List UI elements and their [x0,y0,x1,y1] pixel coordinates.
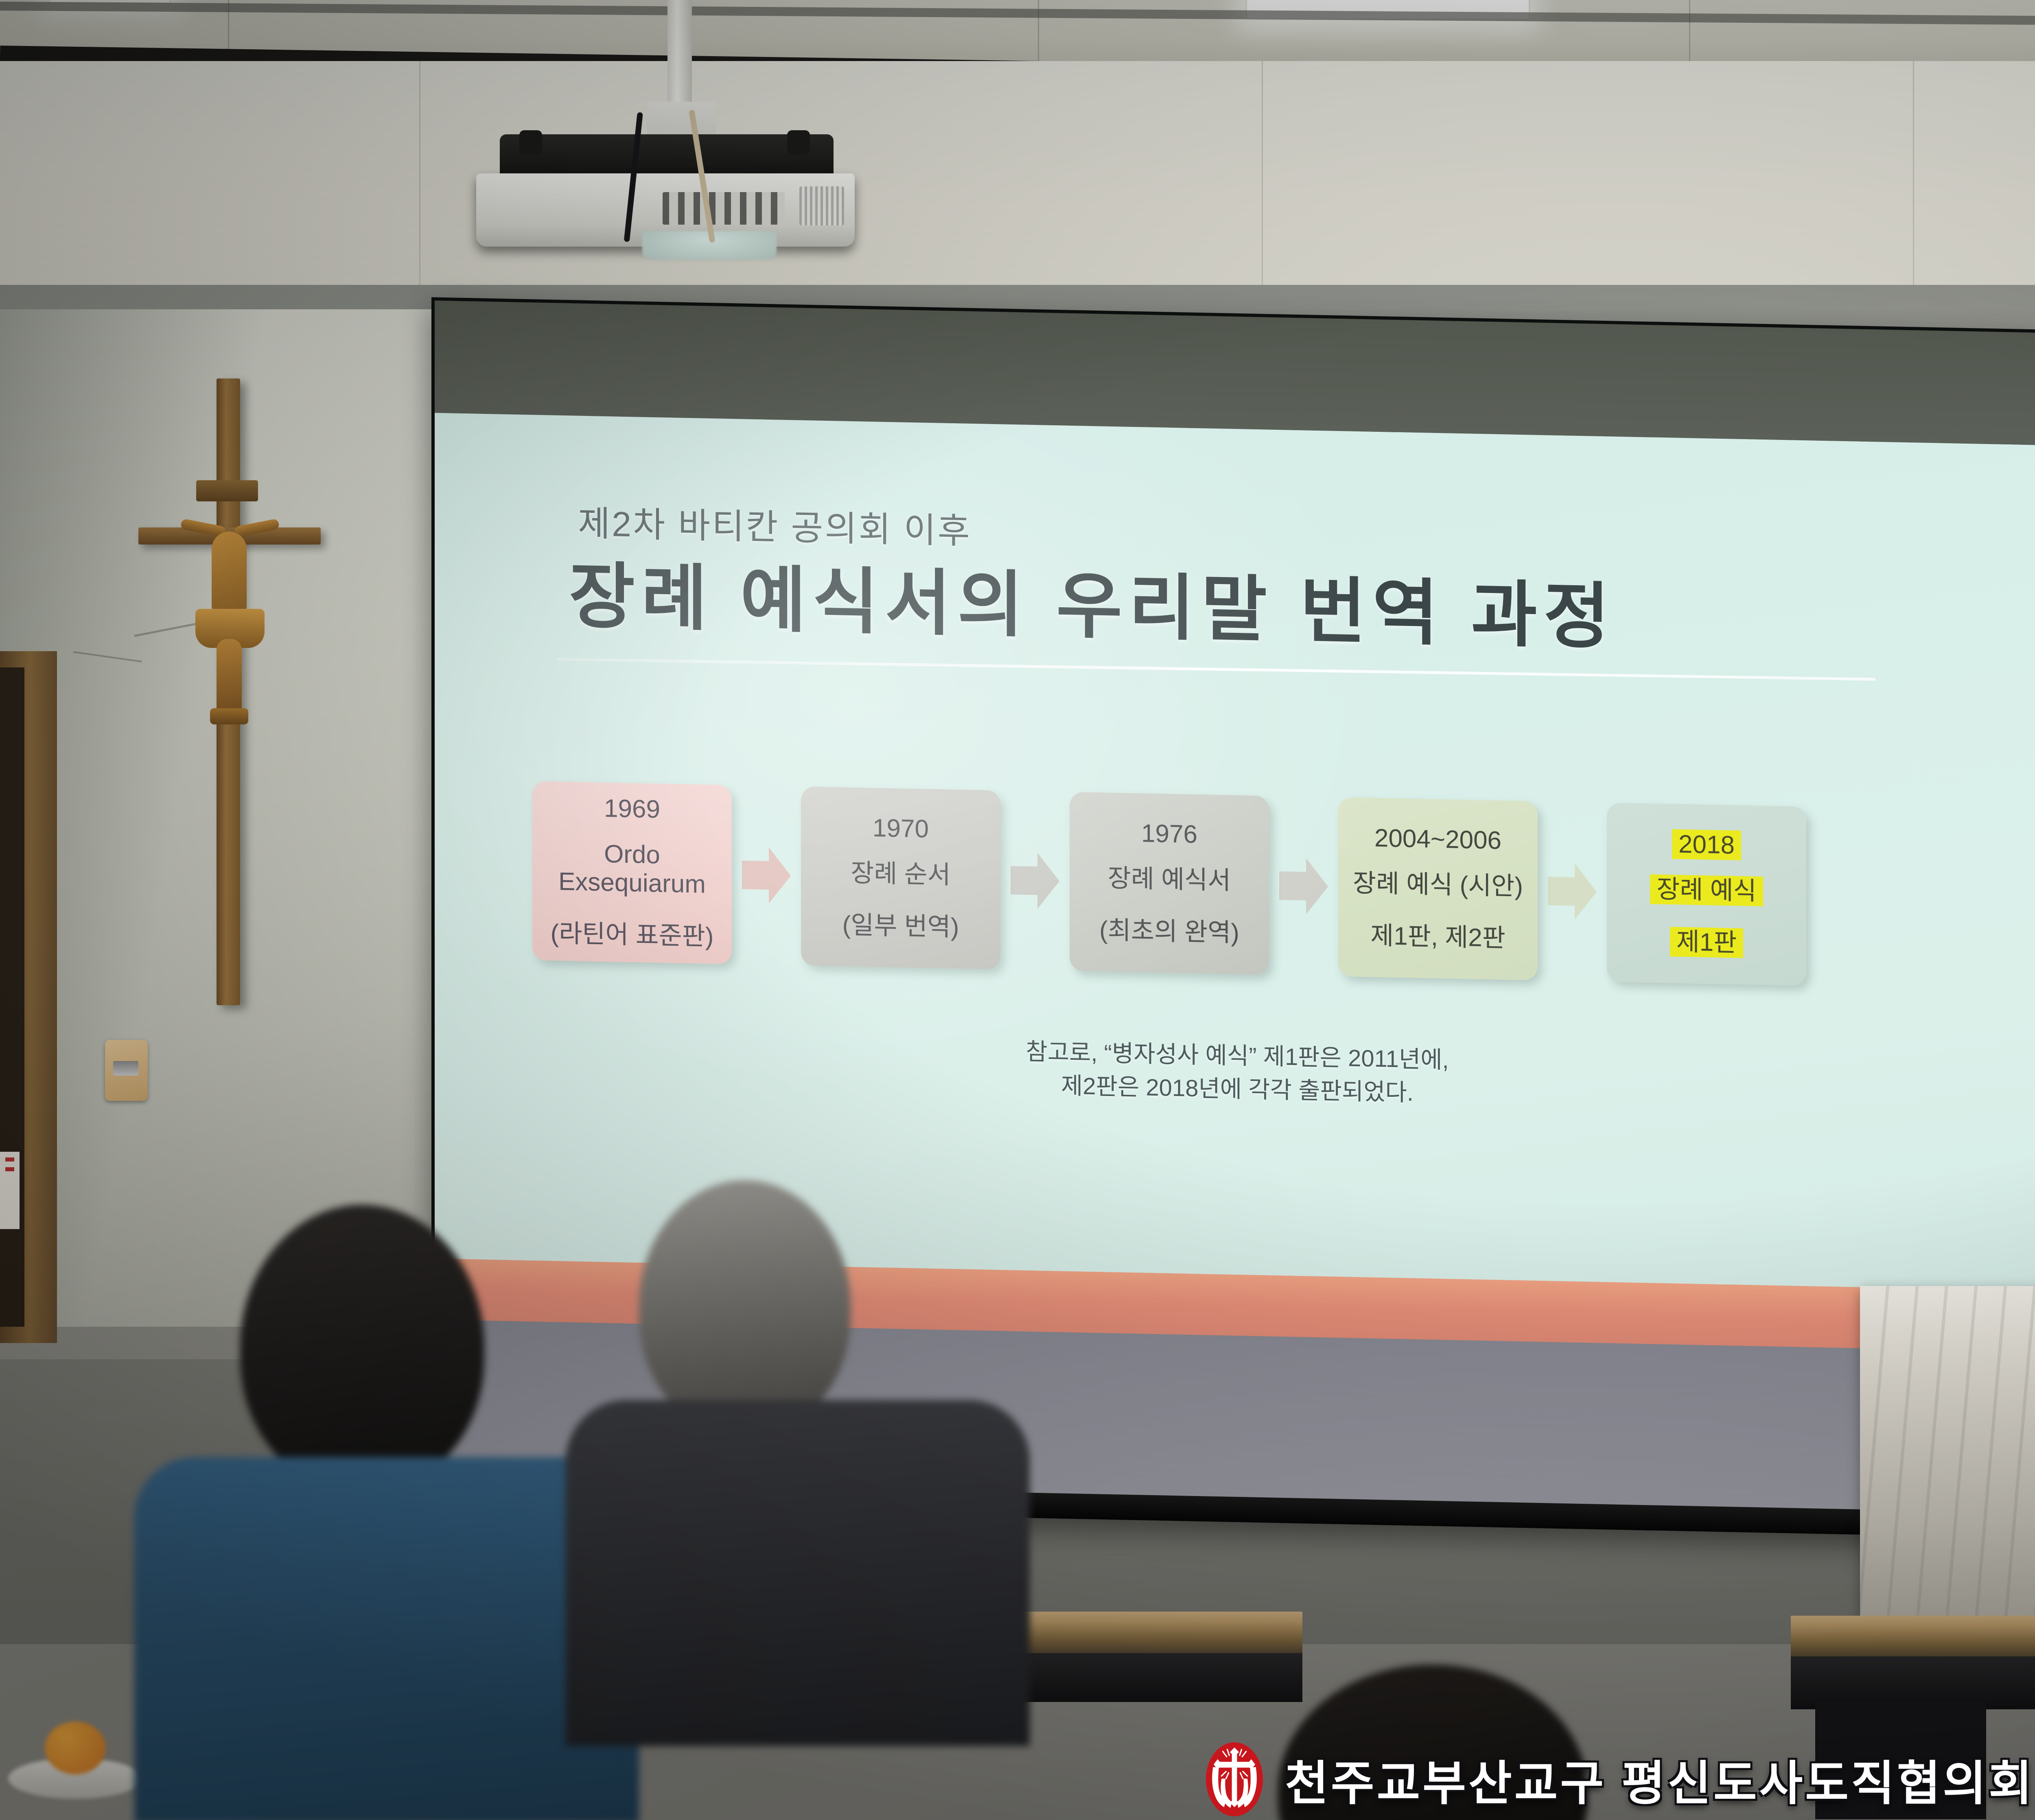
projector-mount-pole [667,0,692,110]
projector-ports [663,192,785,225]
flow-node-1969: 1969 Ordo Exsequiarum (라틴어 표준판) [532,781,732,964]
flow-node-title: 장례 예식 [1650,874,1763,906]
flow-node-2004-2006: 2004~2006 장례 예식 (시안) 제1판, 제2판 [1338,797,1538,980]
flow-arrow-1 [732,785,801,965]
light-switch[interactable] [105,1040,148,1101]
inri-plaque [196,480,258,501]
slide-title: 장례 예식서의 우리말 번역 과정 [569,538,1616,663]
corpus-figure [183,513,275,741]
orange-fruit [45,1722,106,1774]
door-notice [0,1152,20,1229]
arrow-right-icon [1011,850,1059,912]
flow-arrow-4 [1538,801,1607,982]
flow-node-1970: 1970 장례 순서 (일부 번역) [801,786,1000,969]
audience-member [1913,1538,2035,1820]
flow-node-subtitle: 제1판 [1670,927,1744,958]
flow-node-1976: 1976 장례 예식서 (최초의 완역) [1070,792,1269,975]
flow-node-subtitle: (일부 번역) [842,904,959,943]
flow-node-title: 장례 순서 [851,859,950,889]
flow-node-2018: 2018 장례 예식 제1판 [1607,803,1806,986]
audience-member [1205,1665,1693,1820]
ceiling-projector [471,134,858,256]
arrow-right-icon [1548,860,1597,922]
ceiling-seam [1689,0,1690,65]
audience-member [566,1180,1046,1742]
crucifix [134,378,322,1005]
flow-node-title: 장례 예식서 [1108,864,1231,895]
flow-node-subtitle: (최초의 완역) [1099,909,1239,949]
timeline-flow: 1969 Ordo Exsequiarum (라틴어 표준판) 1970 장례 … [532,757,2022,1014]
photo-scene: 제2차 바티칸 공의회 이후 장례 예식서의 우리말 번역 과정 1969 Or… [0,0,2035,1820]
flow-node-year: 1976 [1141,819,1197,849]
flow-node-subtitle: 제1판, 제2판 [1370,915,1505,954]
flow-node-title: Ordo Exsequiarum [558,839,706,899]
projector-vent [799,186,844,225]
slide-footnote: 참고로, “병자성사 예식” 제1판은 2011년에, 제2판은 2018년에 … [435,1023,2035,1122]
flow-arrow-2 [1000,790,1070,971]
flow-node-year: 2004~2006 [1374,824,1501,855]
slide-title-rule [557,658,1875,680]
flow-node-year: 2018 [1672,829,1741,860]
arrow-right-icon [1279,855,1328,917]
flow-arrow-3 [1269,796,1338,976]
flow-node-year: 1969 [604,794,660,824]
flow-node-subtitle: (라틴어 표준판) [551,912,714,952]
flow-node-title: 장례 예식 (시안) [1353,869,1523,901]
flow-node-year: 1970 [873,814,929,844]
upper-wall [0,61,2035,322]
arrow-right-icon [742,844,791,906]
